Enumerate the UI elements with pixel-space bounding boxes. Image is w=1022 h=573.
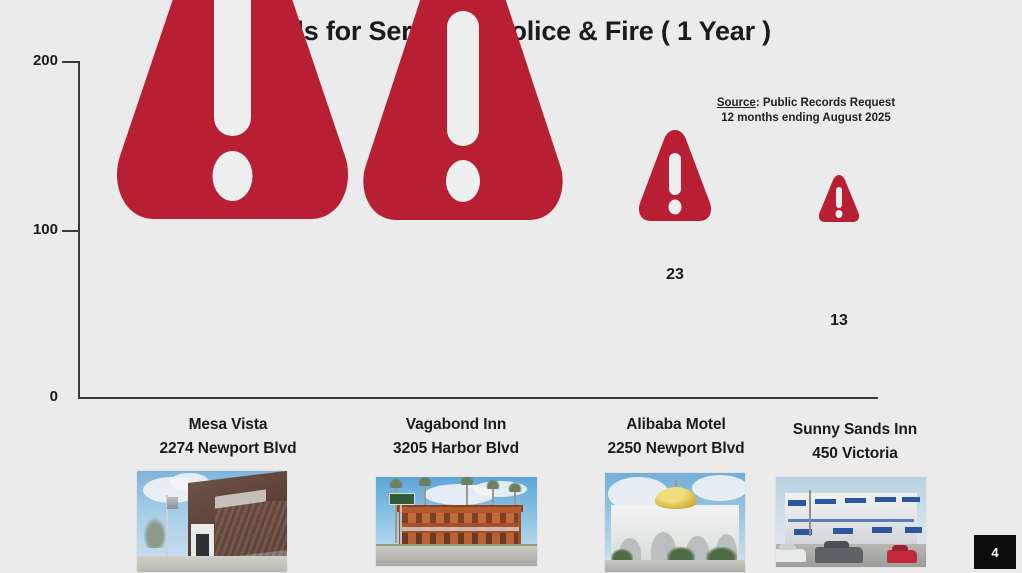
utility-pole xyxy=(809,490,811,537)
category-label-sunny-sands-inn: Sunny Sands Inn 450 Victoria xyxy=(766,418,944,466)
building-windows xyxy=(402,533,518,544)
building-windows xyxy=(402,513,518,524)
y-tick-label-100: 100 xyxy=(0,221,58,238)
awning xyxy=(902,497,920,502)
cloud xyxy=(692,475,746,501)
source-separator: : xyxy=(756,97,763,109)
bar-group-sunny-sands-inn[interactable]: 13 xyxy=(817,0,861,398)
warning-triangle-icon xyxy=(358,0,568,223)
category-name: Mesa Vista xyxy=(112,413,344,437)
awning xyxy=(875,497,896,502)
flag xyxy=(167,497,178,509)
y-tick-label-0: 0 xyxy=(0,388,58,405)
warning-triangle-icon xyxy=(817,173,861,223)
awning xyxy=(788,500,806,505)
source-label: Source xyxy=(717,97,756,109)
alibaba-motel-photo xyxy=(604,472,746,573)
awning xyxy=(833,528,853,533)
bar-group-vagabond-inn[interactable]: 176 xyxy=(358,0,568,398)
category-address: 2274 Newport Blvd xyxy=(112,437,344,461)
awning xyxy=(905,527,922,532)
source-note-line1: Source: Public Records Request xyxy=(706,96,906,111)
awning xyxy=(815,499,836,504)
source-note-line2: 12 months ending August 2025 xyxy=(706,111,906,126)
category-label-alibaba-motel: Alibaba Motel 2250 Newport Blvd xyxy=(578,413,774,461)
y-tick-label-200: 200 xyxy=(0,52,58,69)
parked-truck xyxy=(815,547,863,562)
category-address: 450 Victoria xyxy=(766,442,944,466)
bar-group-mesa-vista[interactable]: 188 xyxy=(110,0,355,398)
ground xyxy=(137,556,287,572)
page-number-badge: 4 xyxy=(974,535,1016,569)
ground xyxy=(605,560,745,572)
motel-sign xyxy=(389,493,415,505)
parking-lot xyxy=(376,546,537,566)
category-label-mesa-vista: Mesa Vista 2274 Newport Blvd xyxy=(112,413,344,461)
y-tick-100 xyxy=(62,230,78,232)
warning-triangle-icon xyxy=(636,128,714,223)
mesa-vista-photo xyxy=(136,470,288,573)
bar-value-alibaba-motel: 23 xyxy=(636,266,714,284)
category-label-vagabond-inn: Vagabond Inn 3205 Harbor Blvd xyxy=(350,413,562,461)
category-name: Alibaba Motel xyxy=(578,413,774,437)
vagabond-inn-photo xyxy=(375,476,538,567)
tree xyxy=(143,517,167,547)
slide-canvas: Calls for Service – Police & Fire ( 1 Ye… xyxy=(0,0,1022,573)
category-address: 2250 Newport Blvd xyxy=(578,437,774,461)
balcony-railing xyxy=(788,519,914,522)
awning xyxy=(872,527,892,532)
y-tick-200 xyxy=(62,61,78,63)
building-wall xyxy=(215,501,287,564)
sunny-sands-inn-photo xyxy=(775,476,927,568)
y-axis-line xyxy=(78,61,80,399)
awning xyxy=(845,498,866,503)
source-note: Source: Public Records Request 12 months… xyxy=(706,96,906,126)
bar-value-sunny-sands-inn: 13 xyxy=(817,312,861,330)
category-name: Vagabond Inn xyxy=(350,413,562,437)
parked-car xyxy=(775,549,806,562)
category-address: 3205 Harbor Blvd xyxy=(350,437,562,461)
sign-post xyxy=(400,505,402,546)
category-name: Sunny Sands Inn xyxy=(766,418,944,442)
building-balcony xyxy=(400,527,519,531)
parked-car xyxy=(887,550,917,563)
warning-triangle-icon xyxy=(110,0,355,223)
bar-group-alibaba-motel[interactable]: 23 xyxy=(636,0,714,398)
